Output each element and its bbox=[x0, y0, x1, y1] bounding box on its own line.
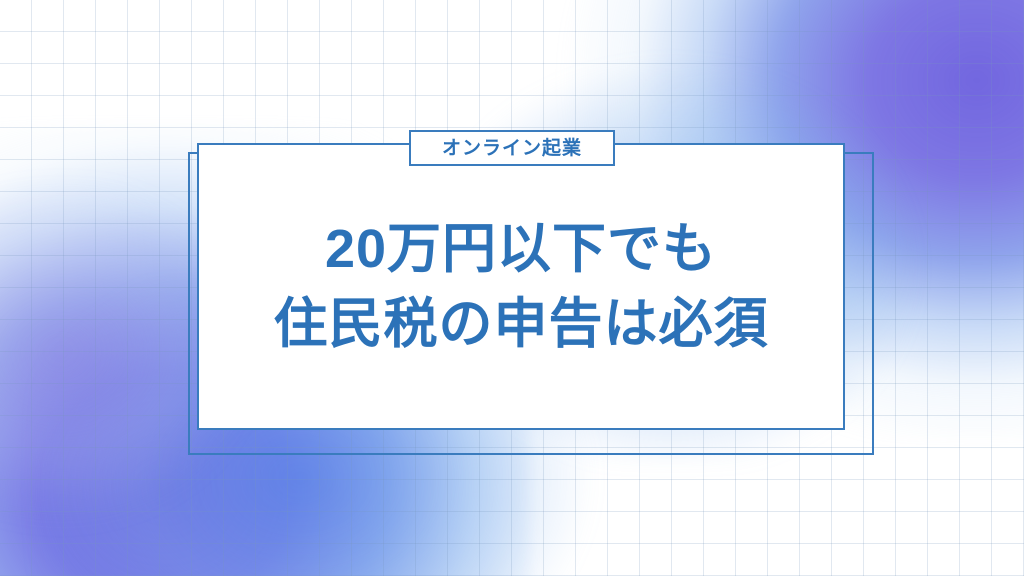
headline-block: 20万円以下でも 住民税の申告は必須 bbox=[197, 143, 845, 430]
category-badge-label: オンライン起業 bbox=[442, 139, 582, 158]
slide-canvas: 20万円以下でも 住民税の申告は必須 オンライン起業 bbox=[0, 0, 1024, 576]
category-badge: オンライン起業 bbox=[409, 130, 615, 166]
headline-line-2: 住民税の申告は必須 bbox=[274, 293, 769, 356]
headline-line-1: 20万円以下でも bbox=[325, 218, 717, 281]
